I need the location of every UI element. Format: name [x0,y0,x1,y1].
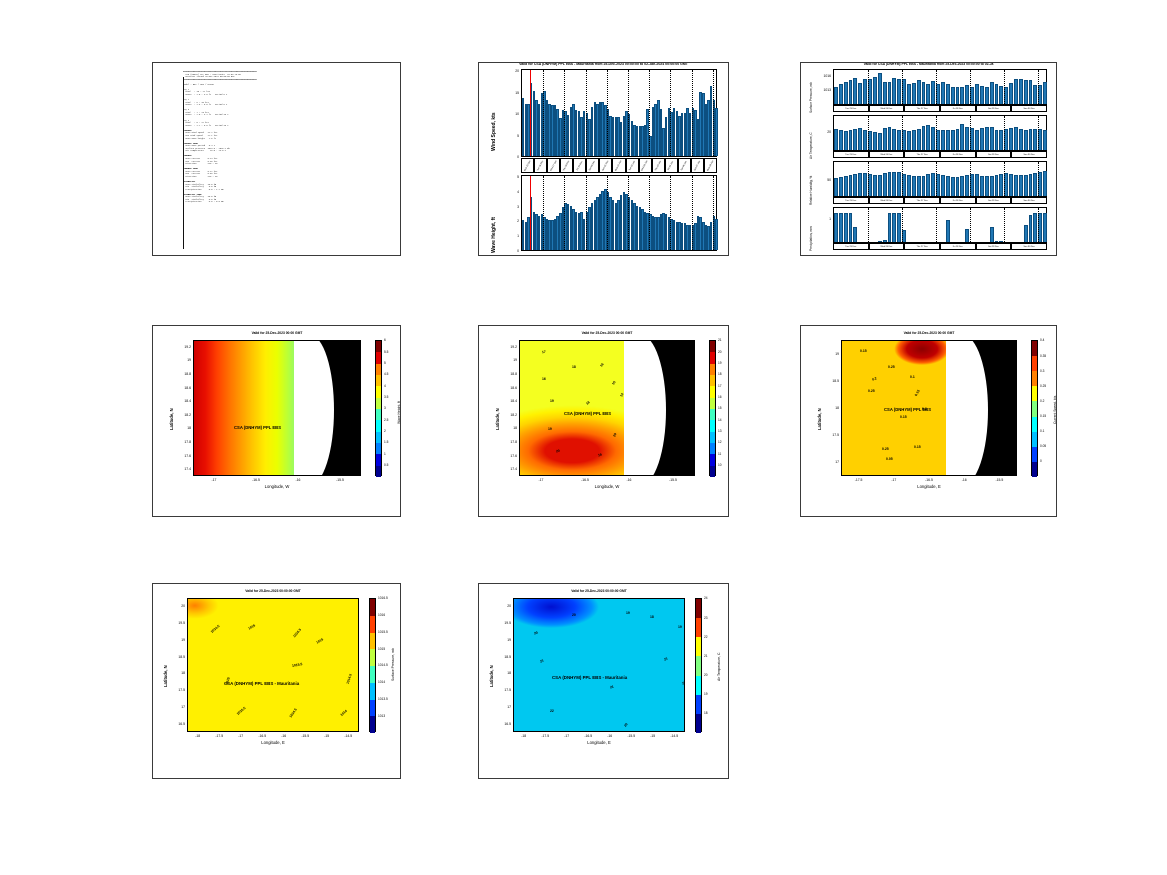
contour-label: 23 [681,680,685,685]
colorbar-label: Current Speed, kts [1053,396,1057,424]
bar-1-1 [839,130,843,150]
date-tick-label: Thu 27 Dec [917,200,928,202]
map-xtick: -18 [515,734,533,738]
map-ytick: 19.2 [503,345,517,349]
bar-1-17 [917,129,921,150]
bar-1-0 [834,129,838,150]
colorbar-segment [376,364,381,375]
bar-1-12 [892,129,896,150]
map-xtick: -15.5 [622,734,640,738]
date-tick-label: Sat 30 Dec [589,160,596,170]
left-margin-rule [183,77,184,249]
map-xtick: -16 [289,478,307,482]
bar-0-26 [960,87,964,104]
bar-2-23 [946,176,950,196]
ylabel-surface-pressure: Surface Pressure, mb [809,82,813,113]
date-tick-label: Fri 05 Jan [668,161,674,171]
map-ylabel: Latitude, N [489,665,494,687]
ytick-0: 10 [504,112,519,116]
bar-1-3 [849,130,853,150]
colorbar-segment [710,341,715,352]
colorbar-tick: 0.2 [1040,399,1044,403]
map-ytick: 18 [503,426,517,430]
bar-0-27 [965,85,969,104]
axes-precipitation [833,207,1047,243]
bar-0-31 [985,87,989,104]
contour-label: 19 [598,453,602,458]
map-ytick: 18.4 [503,399,517,403]
panel-air-temperature-map: Valid for 25-Dec-2023 00:00:00 GMT201918… [478,583,729,779]
time-cursor[interactable] [530,176,531,250]
bar-1-22 [941,130,945,150]
map-axes: 1014.510161016.5101510151015.51014.51015… [187,598,359,732]
bar-1-6 [863,130,867,150]
bar-2-9 [878,175,882,196]
colorbar-tick: 4 [384,384,386,388]
bar-1-26 [960,124,964,150]
date-tick-label: Sun 30 Dec [1023,154,1034,156]
map-xtick: -16.5 [579,734,597,738]
bar-0-33 [995,84,999,104]
colorbar-segment [710,443,715,454]
colorbar-segment [710,398,715,409]
colorbar-segment [696,714,701,733]
bar-1-2 [844,131,848,150]
coastline-0 [624,340,666,476]
date-tick: Thu 27 Dec [904,105,940,112]
map-xtick: -14.5 [339,734,357,738]
day-gridline [1038,162,1039,196]
ylabel-air-temperature: Air Temperature, C [809,132,813,159]
bar-0-11 [888,82,892,104]
axes-air-temperature [833,115,1047,151]
map-ytick: 17.6 [503,454,517,458]
colorbar-tick: 19 [718,361,722,365]
day-gridline [543,70,544,156]
colorbar-tick: 1013.5 [378,697,388,701]
bar-1-13 [897,130,901,150]
day-gridline [970,116,971,150]
map-xtick: -14.5 [665,734,683,738]
day-gridline [936,116,937,150]
day-gridline [868,70,869,104]
map-xtick: -16.5 [920,478,938,482]
bar-1-38 [1019,129,1023,150]
map-ytick: 18.8 [177,372,191,376]
bar-2-4 [853,174,857,196]
map-ytick: 18.5 [497,655,511,659]
day-gridline [543,176,544,250]
date-tick-label: Wed 26 Dec [880,246,892,248]
bar-1-18 [922,126,926,150]
date-tick-label: Sun 31 Dec [602,160,609,171]
bar-2-32 [990,176,994,196]
bar-1-15 [907,131,911,150]
bar-0-36 [1009,83,1013,104]
contour-label: 0.15 [914,445,921,449]
ytick-2: 50 [811,178,831,182]
colorbar-segment [710,352,715,363]
bar-2-10 [883,173,887,196]
colorbar-segment [370,633,375,650]
date-tick-label: Fri 29 Dec [577,161,584,171]
colorbar-tick: 1014.5 [378,663,388,667]
bar-3-23 [946,220,950,242]
colorbar-tick: 11 [718,452,721,456]
bar-0-34 [999,86,1003,104]
colorbar-tick: 0 [1040,459,1042,463]
map-ytick: 16.5 [497,722,511,726]
axes-wind-speed [521,69,717,157]
date-tick: Sun 30 Dec [1011,105,1047,112]
chart-title-wind-wave: Valid for CSA (DNHYM) PPL EBS - Mauritan… [479,62,728,66]
date-tick: Tue 26 Dec [534,158,547,173]
map-ytick: 20 [171,604,185,608]
day-gridline [970,162,971,196]
bar-0-40 [1029,80,1033,104]
day-gridline [902,116,903,150]
ytick-1: 5 [504,175,519,179]
map-ytick: 18 [171,671,185,675]
map-xtick: -15 [644,734,662,738]
bar-3-34 [999,241,1003,242]
bar-1-32 [990,127,994,150]
map-title: Valid for 25-Dec-2023 00:00 GMT [479,331,729,335]
colorbar-tick: 18 [718,372,722,376]
map-ytick: 18.2 [503,413,517,417]
forecast-text-body: ========================================… [183,71,394,251]
bar-0-0 [834,87,838,104]
map-xtick: -17.5 [536,734,554,738]
date-tick: Tue 25 Dec [833,197,869,204]
ytick-0: 0 [504,155,519,159]
map-ytick: 18.5 [825,379,839,383]
bar-3-39 [1024,225,1028,242]
day-gridline [607,176,608,250]
bar-2-34 [999,174,1003,196]
bar-2-26 [960,176,964,196]
date-tick: Sat 29 Dec [976,197,1012,204]
date-tick: Mon 01 Jan [612,158,625,173]
colorbar-tick: 1013 [378,714,385,718]
colorbar-segment [1032,356,1037,371]
day-gridline [1004,116,1005,150]
date-tick-label: Mon 25 Dec [524,160,531,171]
color-field [188,599,358,731]
date-tick: Mon 08 Jan [704,158,717,173]
colorbar-tick: 1015 [378,647,385,651]
bar-3-4 [853,227,857,242]
bar-1-9 [878,133,882,150]
date-tick: Wed 26 Dec [869,151,905,158]
site-label: CSA (DNHYM) PPL EBS - Mauritania [552,675,627,680]
bar-0-39 [1024,80,1028,104]
bar-2-19 [926,174,930,196]
map-ylabel: Latitude, N [163,665,168,687]
date-tick-label: Sun 07 Jan [694,160,701,171]
bar-2-25 [956,177,960,196]
colorbar-tick: 0.1 [1040,429,1044,433]
bar-1-29 [975,130,979,150]
bar-0-4 [853,78,857,104]
map-ytick: 19 [171,638,185,642]
bar-2-38 [1019,175,1023,196]
bar-3-13 [897,213,901,242]
ylabel-precipitation: Precipitation, mm [809,226,813,251]
date-tick: Sun 30 Dec [1011,151,1047,158]
date-tick: Mon 25 Dec [521,158,534,173]
bar-1-27 [965,127,969,150]
map-xtick: -16.5 [253,734,271,738]
contour-label: 0.25 [868,389,875,393]
map-title: Valid for 25-Dec-2023 00:00 GMT [153,331,401,335]
day-gridline [970,70,971,104]
date-tick: Fri 28 Dec [940,197,976,204]
site-label: CSA (DNHYM) PPL EBS [234,425,281,430]
colorbar-tick: 1016 [378,613,385,617]
bar-1-11 [888,127,892,150]
colorbar-tick: 23 [704,616,708,620]
bar-1-30 [980,128,984,150]
day-gridline [670,176,671,250]
contour-label: 0.25 [882,447,889,451]
colorbar-tick: 22 [704,635,708,639]
colorbar [375,340,382,476]
ytick-0: 1016 [811,74,831,78]
date-tick-label: Wed 03 Jan [642,160,649,171]
day-gridline [564,70,565,156]
colorbar-segment [1032,371,1037,386]
bar-2-30 [980,176,984,196]
bar-3-9 [878,241,882,242]
bar-0-25 [956,87,960,104]
map-ytick: 19 [177,358,191,362]
bar-0-13 [897,79,901,104]
day-gridline [586,70,587,156]
map-ytick: 19 [497,638,511,642]
bar-3-12 [892,213,896,242]
colorbar-tick: 20 [718,350,722,354]
colorbar-tick: 3.5 [384,395,388,399]
color-field [514,599,684,731]
contour-label: 0.1 [910,375,915,379]
day-gridline [936,70,937,104]
colorbar-segment [376,432,381,443]
bar-1-4 [853,129,857,150]
bar-2-8 [873,175,877,196]
bar-0-43 [1043,82,1047,104]
bar-1-73 [715,219,717,250]
date-tick: Tue 25 Dec [833,243,869,250]
colorbar-segment [376,454,381,465]
colorbar-segment [376,420,381,431]
map-xtick: -17 [885,478,903,482]
bar-3-1 [839,213,843,242]
bar-2-3 [849,175,853,196]
date-tick-label: Tue 25 Dec [845,108,856,110]
map-ytick: 17.5 [171,688,185,692]
bar-1-24 [951,130,955,150]
coastline-0 [294,340,334,476]
bar-1-36 [1009,128,1013,150]
map-xtick: -16 [275,734,293,738]
colorbar-tick: 0.25 [1040,384,1046,388]
date-tick-label: Tue 26 Dec [537,160,544,171]
axes-surface-pressure [833,69,1047,105]
date-tick-label: Sun 30 Dec [1023,246,1034,248]
colorbar-segment [370,700,375,717]
bar-3-3 [849,213,853,242]
colorbar-tick: 13 [718,429,722,433]
day-gridline [692,70,693,156]
colorbar-segment [370,716,375,733]
date-tick-label: Fri 28 Dec [953,200,963,202]
map-axes: 2019181920212121222320CSA (DNHYM) PPL EB… [513,598,685,732]
colorbar-segment [1032,432,1037,447]
coastline-0 [946,340,988,476]
bar-0-1 [839,84,843,104]
bar-0-73 [715,108,717,156]
bar-2-36 [1009,174,1013,196]
bar-0-8 [873,77,877,104]
bar-1-39 [1024,130,1028,150]
colorbar [369,598,376,732]
colorbar-segment [696,656,701,675]
colorbar-segment [1032,341,1037,356]
bar-2-16 [912,176,916,196]
date-tick: Fri 28 Dec [940,151,976,158]
ytick-1: 0 [504,249,519,253]
bar-0-10 [883,82,887,104]
ytick-1: 4 [504,190,519,194]
colorbar-segment [370,683,375,700]
bar-2-31 [985,176,989,196]
date-tick: Sat 29 Dec [976,105,1012,112]
date-tick-label: Fri 28 Dec [953,108,963,110]
colorbar-tick: 0.5 [384,463,388,467]
bar-3-2 [844,213,848,242]
contour-label: 0.05 [886,457,893,461]
map-xlabel: Longitude, W [519,484,695,489]
bar-1-40 [1029,129,1033,150]
panel-text-report: ========================================… [152,62,401,256]
date-tick: Fri 05 Jan [665,158,678,173]
map-ytick: 17 [497,705,511,709]
colorbar-label: Surface Pressure, mb [391,648,395,681]
day-gridline [713,70,714,156]
date-tick-label: Tue 02 Jan [629,160,636,171]
colorbar-tick: 24 [704,596,708,600]
map-xtick: -15.5 [296,734,314,738]
contour-label: 0.15 [860,349,867,353]
site-label: CSA (DNHYM) PPL EBS [884,407,931,412]
contour-label: 0.15 [900,415,907,419]
date-tick: Tue 25 Dec [833,105,869,112]
map-ytick: 17.6 [177,454,191,458]
day-gridline [868,116,869,150]
panel-wind-speed-map: Valid for 25-Dec-2023 00:00 GMT171816151… [478,325,729,517]
day-gridline [936,208,937,242]
date-tick-label: Tue 25 Dec [845,200,856,202]
map-xtick: -17.5 [850,478,868,482]
colorbar-segment [370,599,375,616]
date-tick: Wed 03 Jan [639,158,652,173]
colorbar-segment [376,409,381,420]
date-tick-label: Fri 28 Dec [953,246,963,248]
bar-0-3 [849,80,853,104]
site-label: CSA (DNHYM) PPL EBS - Mauritania [224,681,299,686]
colorbar [709,340,716,476]
map-ytick: 17 [171,705,185,709]
date-tick-label: Sun 30 Dec [1023,108,1034,110]
day-gridline [1038,70,1039,104]
bar-2-5 [858,173,862,196]
date-tick: Wed 27 Dec [547,158,560,173]
colorbar-segment [710,454,715,465]
map-xlabel: Longitude, E [841,484,1017,489]
day-gridline [868,208,869,242]
date-tick: Tue 25 Dec [833,151,869,158]
axes-wave-height [521,175,717,251]
colorbar-tick: 19 [704,692,708,696]
bar-0-24 [951,87,955,104]
bar-3-10 [883,240,887,242]
bar-0-6 [863,79,867,104]
contour-label: 16 [542,377,546,381]
bar-1-31 [985,127,989,150]
date-tick: Thu 27 Dec [904,197,940,204]
day-gridline [649,176,650,250]
map-ytick: 19 [503,358,517,362]
day-gridline [902,208,903,242]
colorbar-segment [376,352,381,363]
day-gridline [670,70,671,156]
date-tick-label: Thu 04 Jan [655,160,662,171]
bar-3-33 [995,241,999,242]
colorbar-tick: 15 [718,406,722,410]
colorbar-tick: 12 [718,440,722,444]
map-axes: 0.150.250.20.250.10.150.20.150.250.150.0… [841,340,1017,476]
map-xlabel: Longitude, E [513,740,685,745]
map-xtick: -17.5 [210,734,228,738]
colorbar-tick: 14 [718,418,722,422]
day-gridline [692,176,693,250]
map-xlabel: Longitude, E [187,740,359,745]
map-ytick: 16.5 [171,722,185,726]
bar-0-23 [946,84,950,104]
bar-0-16 [912,83,916,104]
colorbar-segment [376,375,381,386]
bar-2-39 [1024,175,1028,196]
bar-0-9 [878,73,882,104]
bar-3-27 [965,229,969,242]
map-xtick: -17 [558,734,576,738]
map-xtick: -16 [620,478,638,482]
colorbar-segment [710,409,715,420]
bar-0-18 [922,82,926,104]
date-tick-label: Wed 26 Dec [880,108,892,110]
colorbar-segment [710,386,715,397]
date-tick-label: Thu 28 Dec [563,160,570,171]
time-cursor[interactable] [530,70,531,156]
colorbar-segment [710,364,715,375]
bar-1-25 [956,129,960,150]
bar-0-22 [941,82,945,104]
bar-0-41 [1033,85,1037,104]
map-title: Valid for 25-Dec-2023 00:00:00 GMT [478,589,725,593]
ylabel-wind-speed: Wind Speed, kts [491,112,497,151]
bar-0-38 [1019,79,1023,104]
